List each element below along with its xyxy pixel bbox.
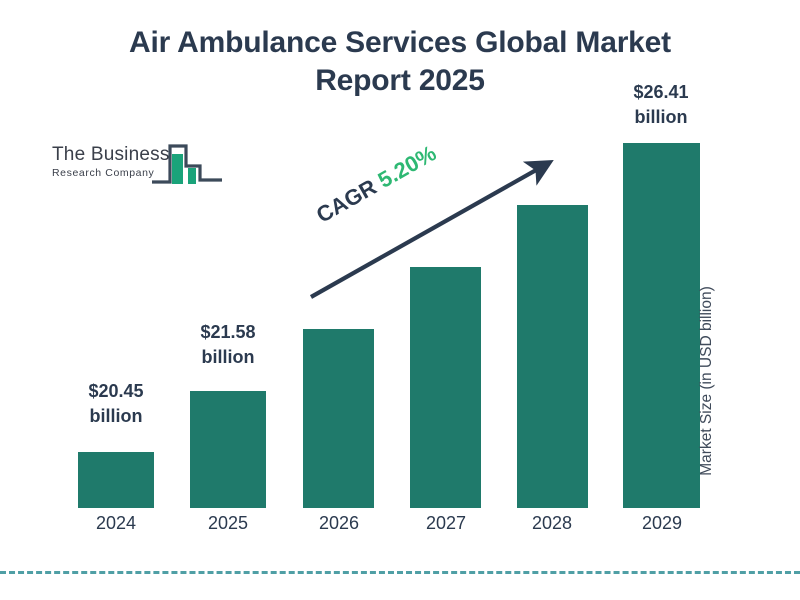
x-axis-label-2029: 2029 bbox=[616, 513, 708, 534]
value-label-2025: $21.58 billion bbox=[173, 320, 283, 370]
x-axis-label-2026: 2026 bbox=[293, 513, 385, 534]
x-axis-label-2028: 2028 bbox=[506, 513, 598, 534]
bar-2028 bbox=[517, 205, 588, 508]
value-label-2025-unit: billion bbox=[173, 345, 283, 370]
value-label-2025-amount: $21.58 bbox=[173, 320, 283, 345]
x-axis-label-2027: 2027 bbox=[400, 513, 492, 534]
bar-2024 bbox=[78, 452, 154, 508]
plot-area: 2024 2025 2026 2027 2028 2029 $20.45 bil… bbox=[0, 0, 800, 600]
bar-2027 bbox=[410, 267, 481, 508]
bar-2025 bbox=[190, 391, 266, 508]
y-axis-title: Market Size (in USD billion) bbox=[698, 231, 716, 531]
bar-2026 bbox=[303, 329, 374, 508]
chart-page: Air Ambulance Services Global Market Rep… bbox=[0, 0, 800, 600]
x-axis-label-2025: 2025 bbox=[182, 513, 274, 534]
value-label-2024-unit: billion bbox=[61, 404, 171, 429]
bar-2029 bbox=[623, 143, 700, 508]
value-label-2024: $20.45 billion bbox=[61, 379, 171, 429]
y-axis-title-wrap: Market Size (in USD billion) bbox=[700, 0, 760, 600]
x-axis-label-2024: 2024 bbox=[70, 513, 162, 534]
value-label-2024-amount: $20.45 bbox=[61, 379, 171, 404]
footer-divider bbox=[0, 571, 800, 574]
